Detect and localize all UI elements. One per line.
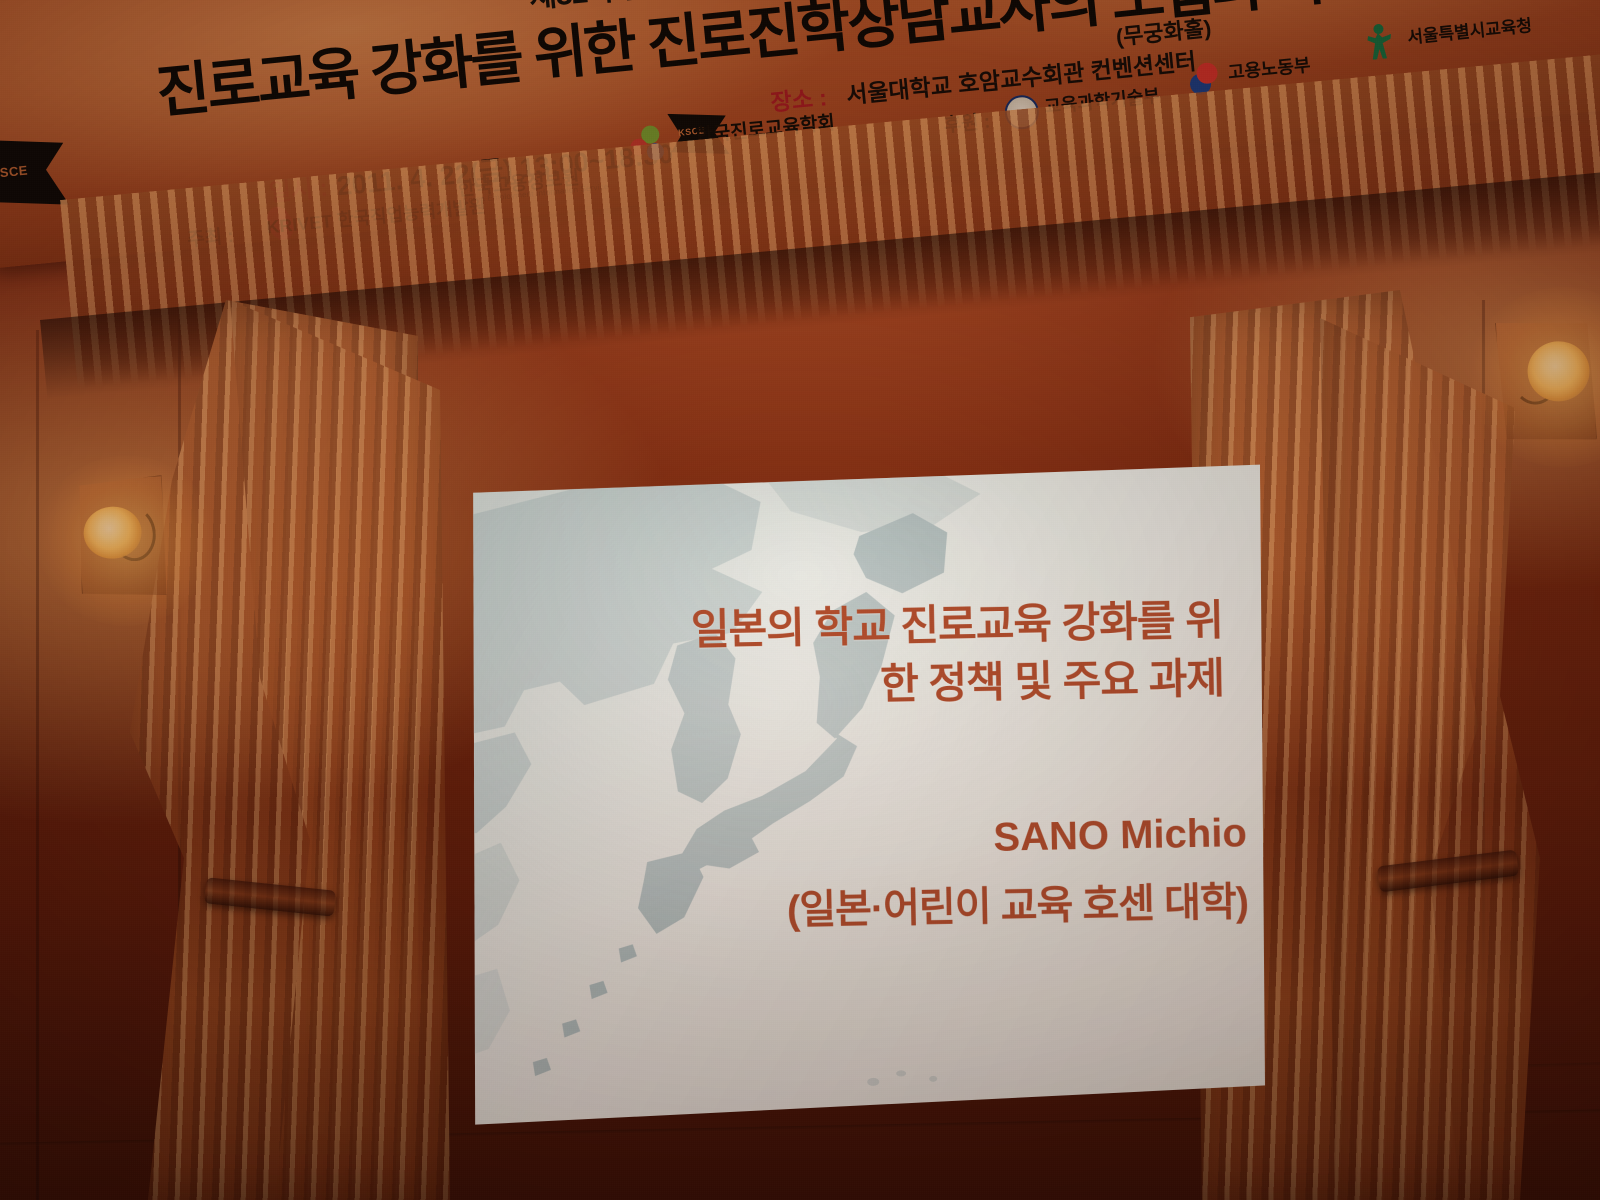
conference-hall-photo: 제32차 한국진로교육학회 춘계학술대회 진로교육 강화를 위한 진로진학상담교… [0, 0, 1600, 1200]
banner-supporter-2: 고용노동부 [1227, 51, 1312, 85]
projection-screen: 일본의 학교 진로교육 강화를 위 한 정책 및 주요 과제 SANO Mich… [460, 463, 1272, 1128]
slide-title: 일본의 학교 진로교육 강화를 위 한 정책 및 주요 과제 [522, 591, 1224, 720]
projected-slide: 일본의 학교 진로교육 강화를 위 한 정책 및 주요 과제 SANO Mich… [460, 463, 1272, 1128]
ksce-logo-icon: KSCE [0, 131, 69, 213]
sen-logo-icon [1364, 23, 1395, 62]
wall-sconce-right [1495, 316, 1597, 445]
east-asia-map-icon [460, 463, 1272, 1128]
wall-panel-seam [36, 330, 39, 1200]
wall-sconce-left [74, 475, 170, 601]
banner-supporter-3: 서울특별시교육청 [1406, 11, 1533, 48]
